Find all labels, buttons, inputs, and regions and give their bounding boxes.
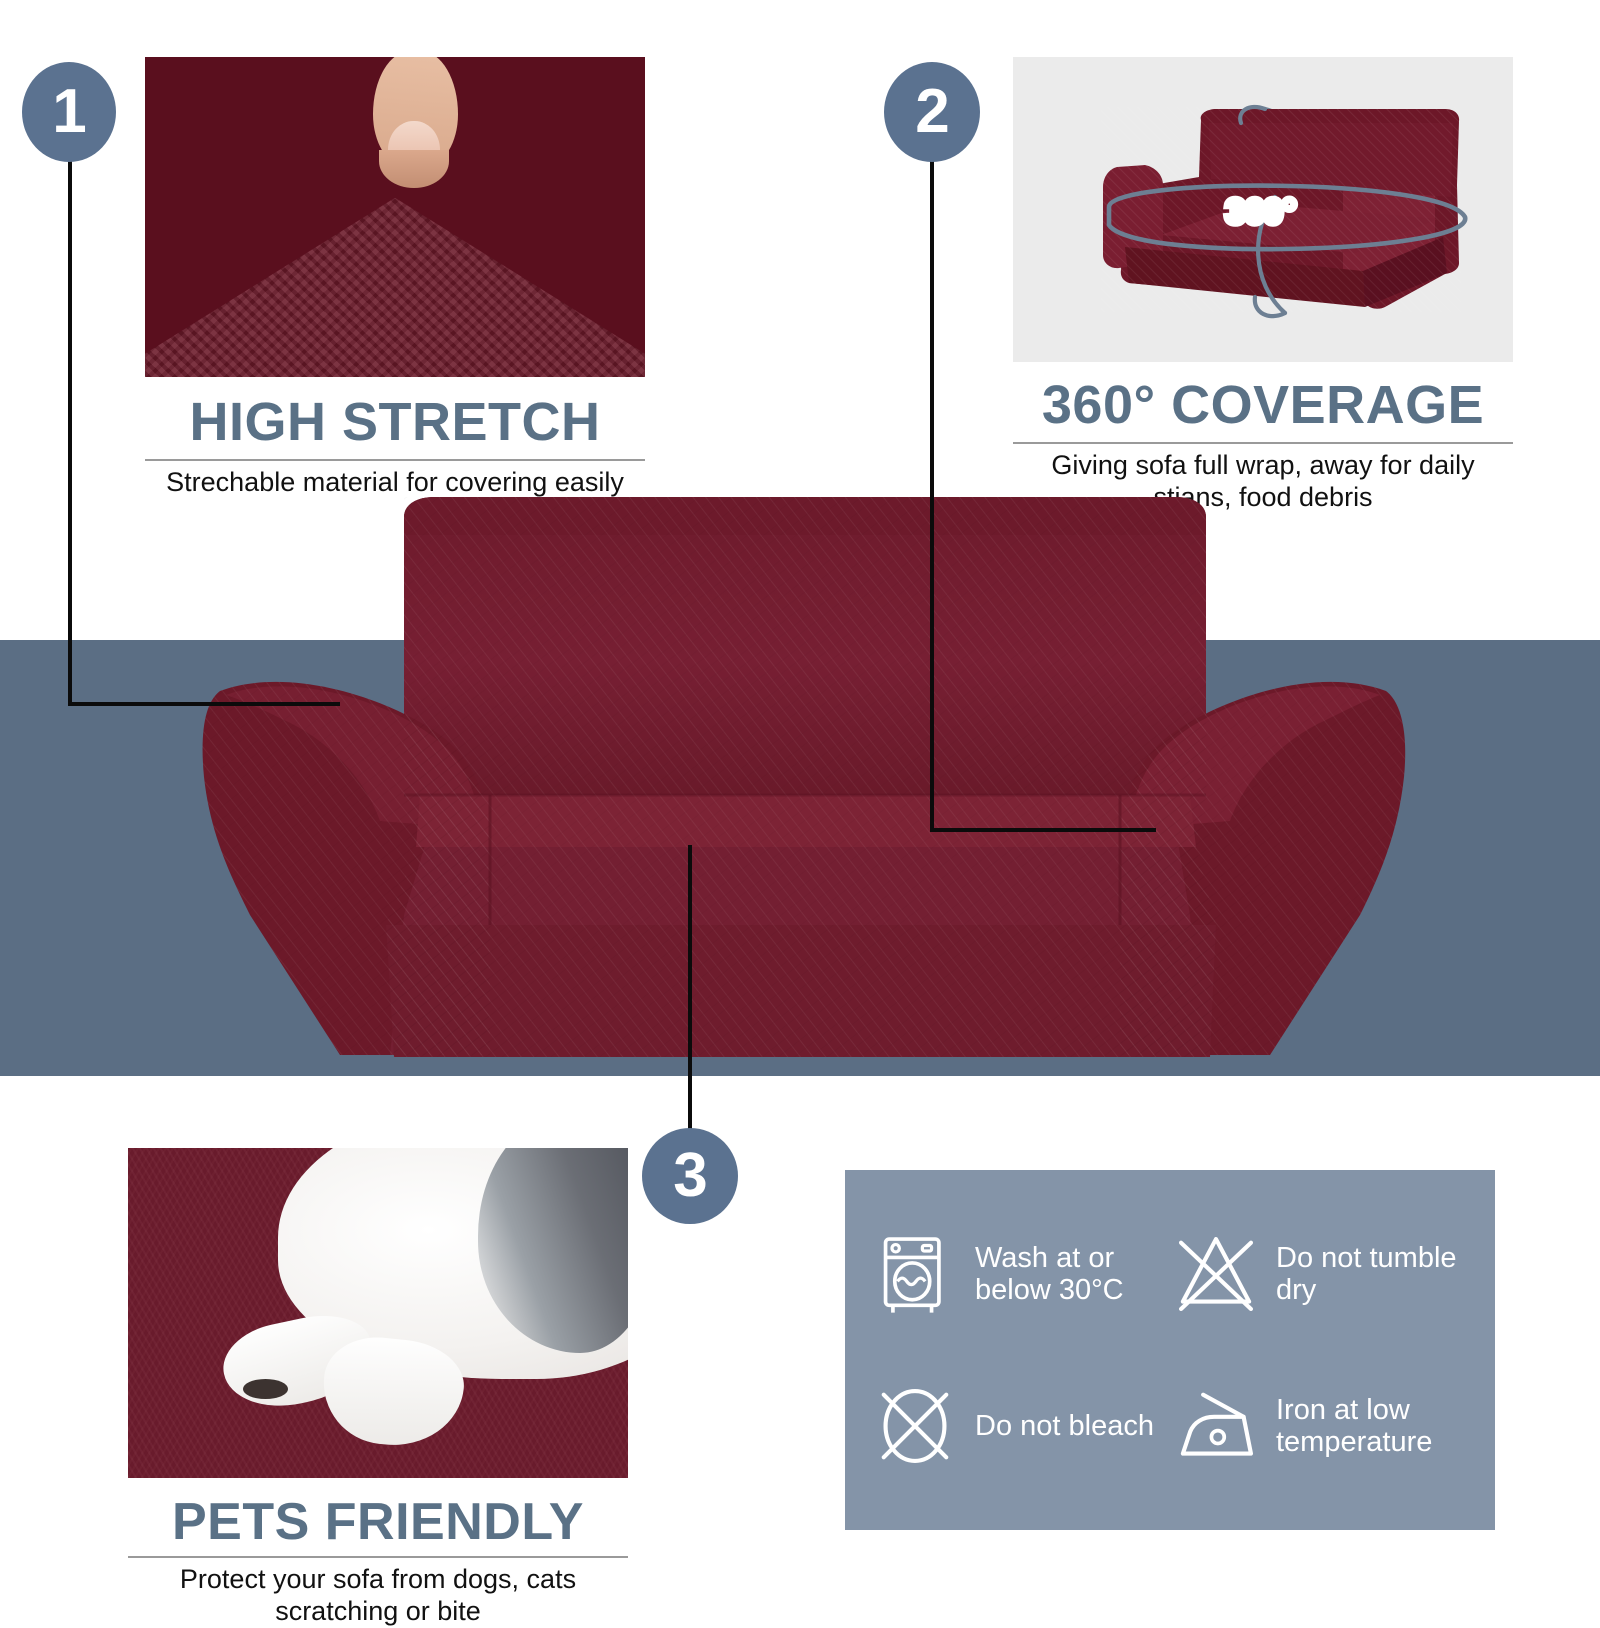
care-label-iron: Iron at low temperature (1276, 1394, 1471, 1459)
leader-line-2-horizontal (930, 828, 1156, 832)
care-item-bleach: Do not bleach (869, 1350, 1170, 1502)
care-instructions-panel: Wash at or below 30°C Do not tumble dry … (845, 1170, 1495, 1530)
leader-line-3-vertical (688, 845, 692, 1133)
fabric-stretch-photo (145, 57, 645, 377)
panel-1-title: HIGH STRETCH (145, 391, 645, 453)
paw-pad (243, 1379, 288, 1399)
callout-badge-3-label: 3 (673, 1145, 706, 1207)
callout-badge-1: 1 (22, 62, 116, 162)
callout-badge-2-label: 2 (915, 81, 948, 143)
loveseat-360-svg: 360° 360° (1013, 57, 1513, 362)
panel-3-title: PETS FRIENDLY (128, 1492, 628, 1552)
care-item-tumble-dry: Do not tumble dry (1170, 1198, 1471, 1350)
washing-machine-icon (869, 1228, 961, 1320)
hand-finger-illustration (373, 57, 458, 211)
callout-badge-3: 3 (642, 1128, 738, 1224)
care-item-wash: Wash at or below 30°C (869, 1198, 1170, 1350)
iron-low-heat-icon (1170, 1380, 1262, 1472)
care-label-wash: Wash at or below 30°C (975, 1242, 1170, 1307)
coverage-illustration-photo: 360° 360° (1013, 57, 1513, 362)
dog-on-sofa-photo (128, 1148, 628, 1478)
badge-360-label: 360° (1226, 193, 1296, 231)
callout-badge-2: 2 (884, 62, 980, 162)
no-tumble-dry-icon (1170, 1228, 1262, 1320)
main-product-image (190, 495, 1420, 1080)
feature-panel-360-coverage: 360° 360° 360° COVERAGE Giving sofa full… (1013, 57, 1513, 514)
panel-2-title: 360° COVERAGE (1013, 374, 1513, 436)
leader-line-1-vertical (68, 158, 72, 706)
panel-2-divider (1013, 442, 1513, 444)
leader-line-2-vertical (930, 160, 934, 832)
feature-panel-high-stretch: HIGH STRETCH Strechable material for cov… (145, 57, 645, 499)
callout-badge-1-label: 1 (52, 81, 85, 143)
panel-3-subtitle: Protect your sofa from dogs, cats scratc… (128, 1564, 628, 1628)
leader-line-1-horizontal (68, 702, 340, 706)
main-sofa-svg (190, 495, 1420, 1080)
care-item-iron: Iron at low temperature (1170, 1350, 1471, 1502)
feature-panel-pets-friendly: PETS FRIENDLY Protect your sofa from dog… (128, 1148, 628, 1628)
no-bleach-icon (869, 1380, 961, 1472)
care-label-bleach: Do not bleach (975, 1410, 1154, 1442)
panel-3-divider (128, 1556, 628, 1558)
infographic-canvas: HIGH STRETCH Strechable material for cov… (0, 0, 1600, 1600)
finger-tip (379, 150, 449, 188)
care-label-tumble-dry: Do not tumble dry (1276, 1242, 1471, 1307)
panel-1-divider (145, 459, 645, 461)
